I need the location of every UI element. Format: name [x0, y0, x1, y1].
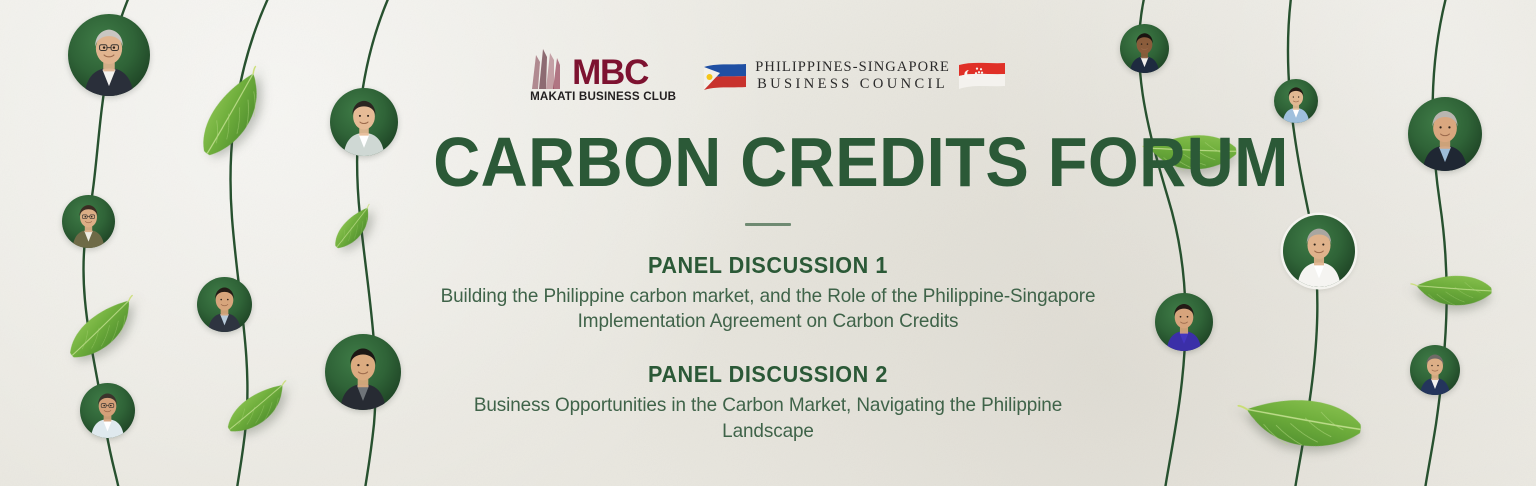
portrait-figure [80, 383, 135, 438]
philippines-singapore-business-council-logo: PHILIPPINES-SINGAPORE BUSINESS COUNCIL [702, 59, 1007, 93]
speaker-portrait-12 [1410, 345, 1460, 395]
portrait-figure [330, 88, 398, 156]
speaker-portrait-2 [330, 88, 398, 156]
panel-discussion-2: PANEL DISCUSSION 2 Business Opportunitie… [408, 361, 1128, 444]
panel-1-description: Building the Philippine carbon market, a… [438, 284, 1098, 335]
portrait-figure [68, 14, 150, 96]
mbc-wordmark-row: MBC [529, 49, 648, 89]
panel-2-description: Business Opportunities in the Carbon Mar… [438, 393, 1098, 444]
speaker-portrait-6 [80, 383, 135, 438]
portrait-figure [62, 195, 115, 248]
speaker-portrait-10 [1283, 215, 1355, 287]
leaf-decor-3 [55, 292, 151, 371]
logo-row: MBC MAKATI BUSINESS CLUB PHILIPPINES-SIN… [408, 0, 1128, 104]
speaker-portrait-11 [1155, 293, 1213, 351]
speaker-portrait-8 [1274, 79, 1318, 123]
mbc-wordmark: MBC [572, 56, 648, 89]
panel-2-heading: PANEL DISCUSSION 2 [430, 361, 1107, 388]
speaker-portrait-9 [1408, 97, 1482, 171]
portrait-figure [197, 277, 252, 332]
makati-business-club-logo: MBC MAKATI BUSINESS CLUB [529, 49, 676, 103]
page-title: CARBON CREDITS FORUM [433, 128, 1103, 197]
portrait-figure [1155, 293, 1213, 351]
mbc-subtitle: MAKATI BUSINESS CLUB [530, 91, 676, 103]
portrait-figure [1274, 79, 1318, 123]
leaf-decor-1 [177, 62, 291, 170]
leaf-decor-4 [217, 378, 299, 442]
portrait-figure [1283, 215, 1355, 287]
portrait-figure [1408, 97, 1482, 171]
psbc-line1: PHILIPPINES-SINGAPORE [755, 59, 950, 76]
psbc-line2: BUSINESS COUNCIL [755, 76, 950, 93]
speaker-portrait-4 [197, 277, 252, 332]
portrait-figure [325, 334, 401, 410]
carbon-credits-forum-banner: MBC MAKATI BUSINESS CLUB PHILIPPINES-SIN… [0, 0, 1536, 486]
panel-1-heading: PANEL DISCUSSION 1 [430, 252, 1107, 279]
leaf-decor-6 [1409, 257, 1498, 327]
title-divider [745, 223, 791, 226]
leaf-decor-2 [323, 201, 385, 256]
leaf-decor-7 [1237, 378, 1369, 471]
singapore-flag-icon [957, 61, 1007, 91]
psbc-text: PHILIPPINES-SINGAPORE BUSINESS COUNCIL [755, 59, 950, 93]
speaker-portrait-1 [68, 14, 150, 96]
mbc-buildings-icon [529, 49, 569, 89]
portrait-figure [1410, 345, 1460, 395]
speaker-portrait-5 [325, 334, 401, 410]
panel-discussion-1: PANEL DISCUSSION 1 Building the Philippi… [408, 252, 1128, 335]
speaker-portrait-3 [62, 195, 115, 248]
banner-content: MBC MAKATI BUSINESS CLUB PHILIPPINES-SIN… [408, 0, 1128, 445]
philippines-flag-icon [702, 61, 748, 91]
